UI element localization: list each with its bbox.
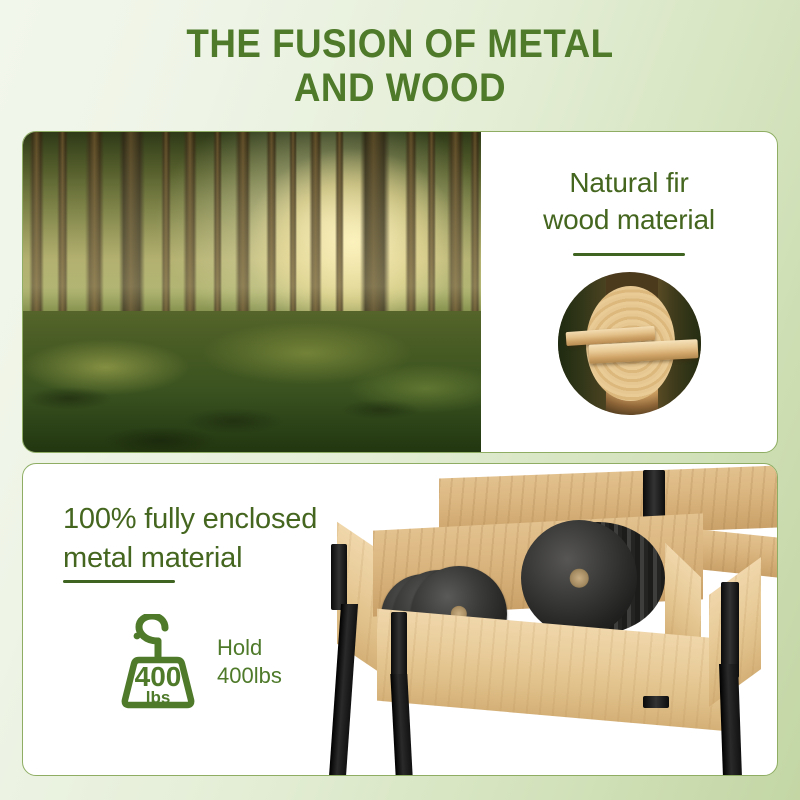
metal-feature-divider [63,580,175,583]
weight-unit-text: lbs [146,688,171,707]
wood-feature-divider [573,253,685,256]
planter-foot-tab [643,696,669,708]
page-title: THE FUSION OF METAL AND WOOD [0,22,800,110]
metal-feature-title-line-2: metal material [63,539,317,578]
planter-leg-right [719,664,742,775]
planter-leg-front-left [329,604,358,775]
wood-feature-content: Natural fir wood material [481,132,777,452]
raised-planter-box-with-weight-plates-photo [313,464,777,775]
weight-plate-stack-front-face [521,520,637,636]
page-title-line-1: THE FUSION OF METAL [32,22,768,66]
metal-feature-title-line-1: 100% fully enclosed [63,500,317,539]
wood-feature-title: Natural fir wood material [543,164,715,238]
forest-photo [23,132,481,452]
metal-feature-title: 100% fully enclosed metal material [63,500,317,578]
cut-log-with-planks-photo [558,272,701,415]
weight-hook-icon: 400 lbs [115,614,201,710]
page-title-line-2: AND WOOD [32,66,768,110]
wood-feature-title-line-2: wood material [543,201,715,238]
capacity-caption-line-1: Hold [217,634,282,662]
hook-dot-icon [134,633,141,640]
metal-feature-card: 100% fully enclosed metal material 400 l… [22,463,778,776]
planter-bracket-left-back [331,544,347,610]
wood-feature-card: Natural fir wood material [22,131,778,453]
wood-feature-title-line-1: Natural fir [543,164,715,201]
capacity-badge: 400 lbs Hold 400lbs [115,614,282,710]
capacity-caption: Hold 400lbs [217,634,282,690]
forest-moss-ground [23,311,481,452]
capacity-caption-line-2: 400lbs [217,662,282,690]
